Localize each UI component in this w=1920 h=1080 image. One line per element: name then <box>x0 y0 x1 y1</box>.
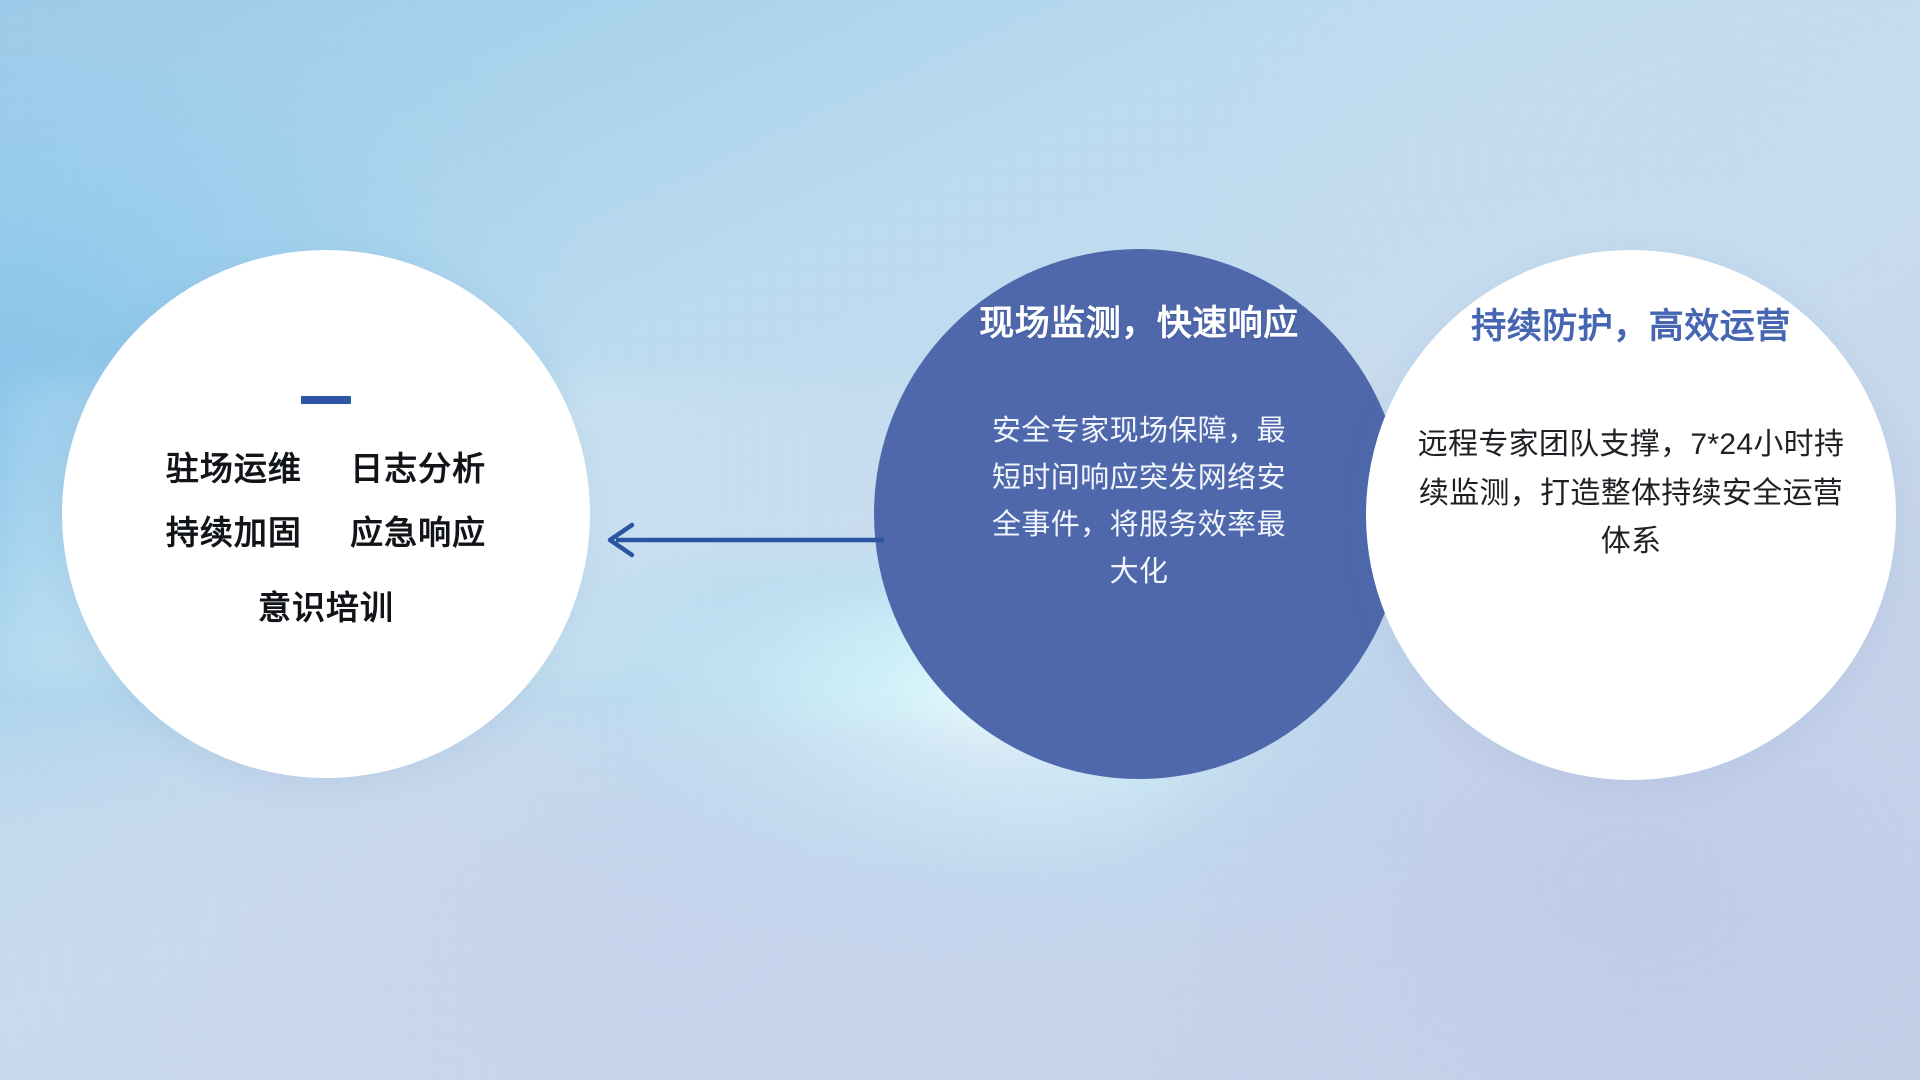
continuous-protection-content: 持续防护，高效运营 远程专家团队支撑，7*24小时持续监测，打造整体持续安全运营… <box>1366 250 1896 780</box>
list-item: 驻场运维 日志分析 <box>166 452 486 485</box>
capability-label: 驻场运维 <box>166 450 302 487</box>
capability-label: 应急响应 <box>350 514 486 551</box>
accent-dash-divider <box>301 396 351 404</box>
arrow-left-icon <box>610 525 884 555</box>
list-item: 持续加固 应急响应 <box>166 516 486 549</box>
list-item: 意识培训 <box>166 591 486 624</box>
capabilities-content: 驻场运维 日志分析 持续加固 应急响应 意识培训 <box>62 250 590 778</box>
slide-canvas: 驻场运维 日志分析 持续加固 应急响应 意识培训 现场监测，快速响应 安全专家现… <box>0 0 1920 1080</box>
continuous-protection-body: 远程专家团队支撑，7*24小时持续监测，打造整体持续安全运营体系 <box>1417 421 1845 567</box>
capability-label: 日志分析 <box>350 450 486 487</box>
capabilities-list: 驻场运维 日志分析 持续加固 应急响应 意识培训 <box>166 452 486 624</box>
onsite-monitoring-content: 现场监测，快速响应 安全专家现场保障，最短时间响应突发网络安全事件，将服务效率最… <box>874 249 1404 779</box>
connector-arrow <box>596 512 886 568</box>
continuous-protection-title: 持续防护，高效运营 <box>1471 298 1791 349</box>
onsite-monitoring-title: 现场监测，快速响应 <box>979 295 1299 346</box>
capability-label: 意识培训 <box>258 589 394 626</box>
onsite-monitoring-body: 安全专家现场保障，最短时间响应突发网络安全事件，将服务效率最大化 <box>983 408 1295 596</box>
capability-label: 持续加固 <box>166 514 302 551</box>
